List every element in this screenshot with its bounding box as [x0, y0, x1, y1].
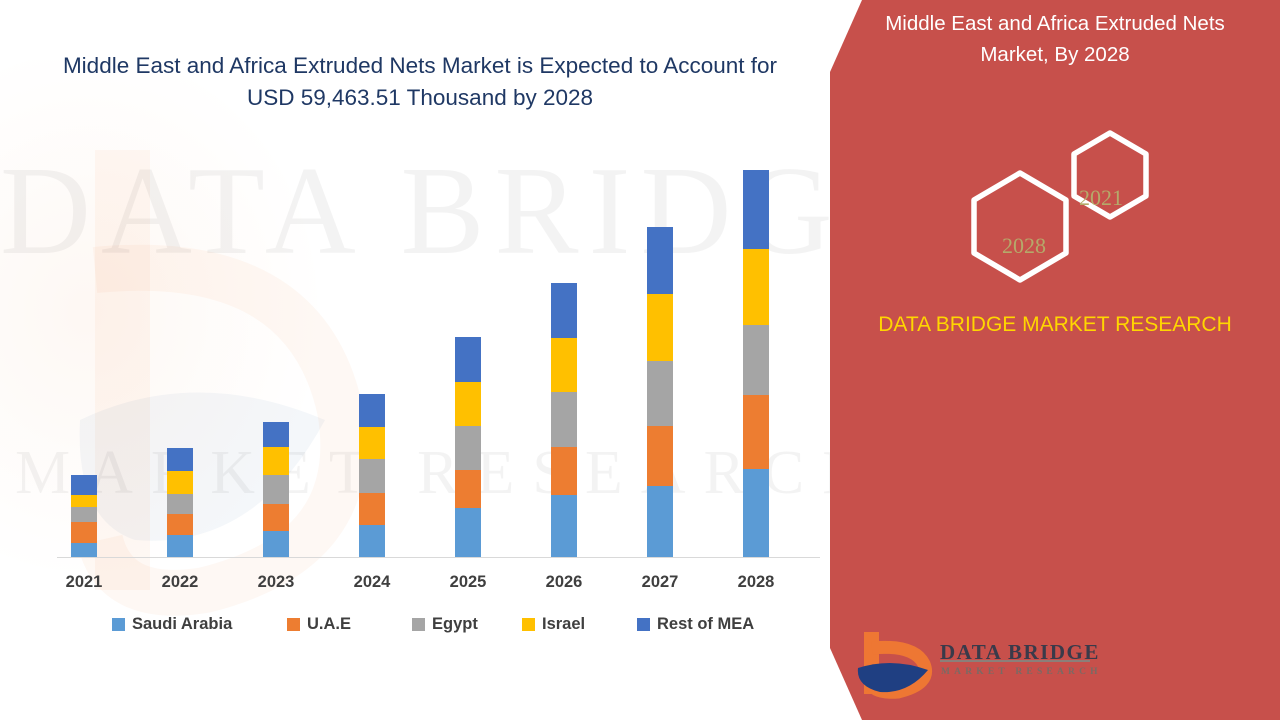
chart-title: Middle East and Africa Extruded Nets Mar…: [60, 50, 780, 114]
legend-swatch-icon: [637, 618, 650, 631]
x-tick-2028: 2028: [708, 573, 804, 592]
bar-segment-u-a-e-2022: [167, 514, 193, 536]
bar-segment-egypt-2021: [71, 507, 97, 521]
hexagon-badges: 2021 2028: [960, 115, 1170, 290]
bar-segment-saudi-arabia-2023: [263, 531, 289, 557]
bar-2026: [551, 283, 577, 557]
bar-segment-egypt-2022: [167, 494, 193, 514]
bar-segment-rest-of-mea-2024: [359, 394, 385, 427]
bar-segment-saudi-arabia-2021: [71, 543, 97, 557]
bar-segment-israel-2022: [167, 471, 193, 494]
x-axis-line: [57, 557, 820, 558]
bar-segment-u-a-e-2028: [743, 395, 769, 469]
legend-item-u-a-e[interactable]: U.A.E: [287, 615, 351, 634]
bar-segment-egypt-2026: [551, 392, 577, 448]
legend-label: Israel: [542, 615, 585, 634]
brand-name: DATA BRIDGE MARKET RESEARCH: [855, 310, 1255, 340]
hexagon-2028-label: 2028: [1002, 233, 1046, 259]
bar-segment-u-a-e-2027: [647, 426, 673, 486]
bar-segment-israel-2024: [359, 427, 385, 459]
bar-segment-israel-2028: [743, 249, 769, 326]
bar-segment-rest-of-mea-2021: [71, 475, 97, 495]
bar-segment-u-a-e-2024: [359, 493, 385, 525]
bar-2024: [359, 394, 385, 557]
logo-wordmark: DATA BRIDGE: [940, 640, 1100, 665]
plot-area: [57, 160, 820, 558]
chart-panel: DATA BRIDGE MARKET RESEARCH Middle East …: [0, 0, 900, 720]
bar-segment-rest-of-mea-2027: [647, 227, 673, 294]
chart-legend: Saudi ArabiaU.A.EEgyptIsraelRest of MEA: [57, 615, 820, 639]
legend-swatch-icon: [412, 618, 425, 631]
hexagon-shapes: [960, 115, 1170, 290]
legend-label: Saudi Arabia: [132, 615, 232, 634]
bar-segment-egypt-2028: [743, 325, 769, 394]
legend-label: Egypt: [432, 615, 478, 634]
bar-2025: [455, 337, 481, 557]
x-tick-2021: 2021: [36, 573, 132, 592]
bar-segment-egypt-2024: [359, 459, 385, 493]
hexagon-2028: [974, 173, 1066, 280]
x-tick-2023: 2023: [228, 573, 324, 592]
bar-2028: [743, 170, 769, 557]
bar-segment-u-a-e-2023: [263, 504, 289, 531]
x-tick-2027: 2027: [612, 573, 708, 592]
bar-segment-egypt-2023: [263, 475, 289, 504]
bar-segment-egypt-2025: [455, 426, 481, 470]
bar-2022: [167, 448, 193, 557]
legend-item-israel[interactable]: Israel: [522, 615, 585, 634]
bar-segment-u-a-e-2026: [551, 447, 577, 495]
bar-2021: [71, 475, 97, 557]
bar-segment-saudi-arabia-2025: [455, 508, 481, 557]
x-tick-2025: 2025: [420, 573, 516, 592]
legend-swatch-icon: [112, 618, 125, 631]
bar-segment-rest-of-mea-2023: [263, 422, 289, 448]
legend-swatch-icon: [287, 618, 300, 631]
bar-segment-u-a-e-2025: [455, 470, 481, 508]
branding-panel: Middle East and Africa Extruded Nets Mar…: [830, 0, 1280, 720]
panel-background-shape: [830, 0, 1280, 720]
bar-segment-israel-2023: [263, 447, 289, 475]
legend-swatch-icon: [522, 618, 535, 631]
bar-segment-rest-of-mea-2025: [455, 337, 481, 382]
bar-segment-rest-of-mea-2022: [167, 448, 193, 471]
x-tick-2026: 2026: [516, 573, 612, 592]
legend-item-rest-of-mea[interactable]: Rest of MEA: [637, 615, 754, 634]
bar-segment-saudi-arabia-2022: [167, 535, 193, 557]
legend-item-saudi-arabia[interactable]: Saudi Arabia: [112, 615, 232, 634]
bar-segment-rest-of-mea-2026: [551, 283, 577, 338]
bar-segment-rest-of-mea-2028: [743, 170, 769, 249]
bar-2023: [263, 422, 289, 557]
x-axis-labels: 20212022202320242025202620272028: [57, 573, 820, 597]
bar-segment-saudi-arabia-2028: [743, 469, 769, 557]
bar-segment-egypt-2027: [647, 361, 673, 426]
bar-segment-israel-2026: [551, 338, 577, 392]
x-tick-2022: 2022: [132, 573, 228, 592]
hexagon-2021-label: 2021: [1079, 185, 1123, 211]
bar-segment-u-a-e-2021: [71, 522, 97, 543]
bar-segment-saudi-arabia-2024: [359, 525, 385, 557]
legend-label: Rest of MEA: [657, 615, 754, 634]
bar-segment-israel-2027: [647, 294, 673, 360]
bar-segment-israel-2021: [71, 495, 97, 507]
logo-subtitle: MARKET RESEARCH: [941, 667, 1102, 677]
panel-title: Middle East and Africa Extruded Nets Mar…: [860, 8, 1250, 70]
bar-segment-israel-2025: [455, 382, 481, 425]
bar-2027: [647, 227, 673, 557]
x-tick-2024: 2024: [324, 573, 420, 592]
legend-item-egypt[interactable]: Egypt: [412, 615, 478, 634]
bar-segment-saudi-arabia-2026: [551, 495, 577, 557]
bar-segment-saudi-arabia-2027: [647, 486, 673, 557]
company-logo: DATA BRIDGE MARKET RESEARCH: [852, 624, 1102, 702]
legend-label: U.A.E: [307, 615, 351, 634]
